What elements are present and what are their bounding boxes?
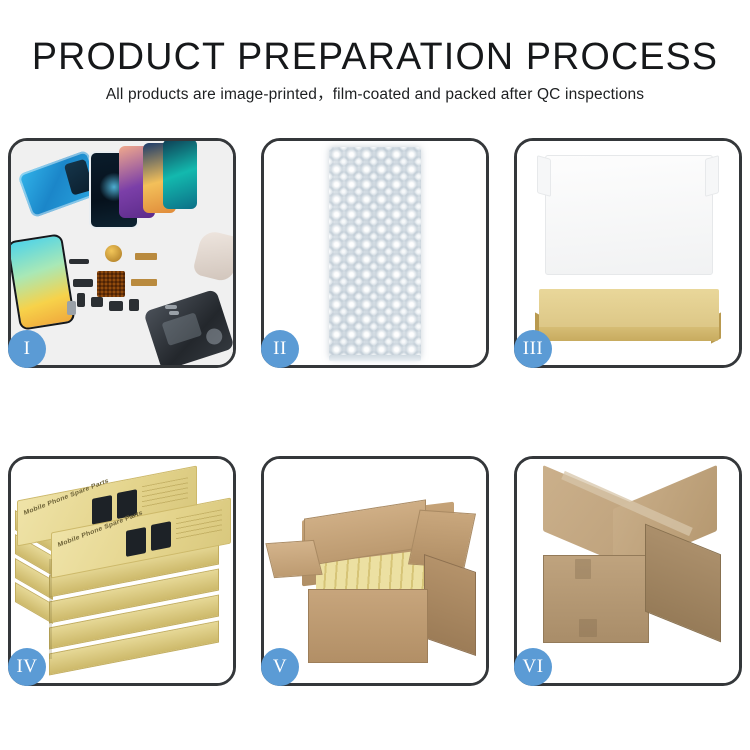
step-image-6 [517, 459, 739, 683]
step-badge-4: IV [8, 648, 46, 686]
box-label-1: Mobile Phone Spare Parts [23, 469, 130, 517]
page-title: PRODUCT PREPARATION PROCESS [4, 36, 747, 78]
box-spec-lines-2 [176, 509, 222, 542]
phone-parts-scene [11, 141, 233, 365]
sim-tray-icon [67, 301, 76, 315]
box-lid-flap-left [537, 155, 551, 197]
bar-part-icon [69, 259, 89, 264]
step-card-5: V [261, 456, 489, 686]
step-badge-1: I [8, 330, 46, 368]
flex-cable-2-icon [131, 279, 157, 286]
step-badge-6: VI [514, 648, 552, 686]
flex-cable-icon [135, 253, 157, 260]
speaker-part-icon [105, 245, 122, 262]
phone-colorful-icon [11, 233, 76, 331]
step-card-6: VI [514, 456, 742, 686]
step-card-1: I [8, 138, 236, 368]
carton-tab-top [575, 559, 591, 579]
steps-grid: I II [8, 138, 742, 686]
step-badge-3: III [514, 330, 552, 368]
carton-tab-bottom [579, 619, 597, 637]
carton-filling-scene [264, 459, 486, 683]
stack-seam [49, 559, 52, 659]
step-image-4: Mobile Phone Spare Parts Mobile Phone Sp… [11, 459, 233, 683]
step-badge-5: V [261, 648, 299, 686]
box-phone-image-4 [151, 521, 171, 551]
connector-part-icon [73, 279, 93, 287]
box-tray-front [539, 327, 719, 341]
screw-icon [165, 305, 177, 309]
sealed-carton-scene [517, 459, 739, 683]
bubble-wrap-icon [329, 147, 421, 359]
step-image-1 [11, 141, 233, 365]
box-spec-lines-1 [142, 477, 188, 510]
step-badge-2: II [261, 330, 299, 368]
product-preparation-infographic: PRODUCT PREPARATION PROCESS All products… [0, 0, 750, 750]
spare-parts-group [69, 249, 189, 329]
box-lid-icon [545, 155, 713, 275]
bubble-wrap-scene [264, 141, 486, 365]
step-image-2 [264, 141, 486, 365]
sealed-carton-side [645, 524, 721, 643]
small-part-b-icon [91, 297, 103, 307]
carton-side-panel [424, 554, 476, 656]
box-lid-flap-right [705, 155, 719, 197]
inner-box-scene [517, 141, 739, 365]
phone-teal-icon [163, 141, 197, 209]
page-subtitle: All products are image-printed，film-coat… [0, 85, 750, 105]
step-card-4: Mobile Phone Spare Parts Mobile Phone Sp… [8, 456, 236, 686]
carton-front-panel [308, 589, 428, 663]
step-image-3 [517, 141, 739, 365]
step-image-5 [264, 459, 486, 683]
stacked-boxes-scene: Mobile Phone Spare Parts Mobile Phone Sp… [11, 459, 233, 683]
small-part-a-icon [77, 293, 85, 307]
step-card-3: III [514, 138, 742, 368]
bubble-wrap-seam [329, 355, 421, 361]
hand-icon [192, 229, 233, 283]
box-phone-image-3 [126, 527, 146, 557]
carton-flap-left [265, 540, 322, 578]
small-part-c-icon [109, 301, 123, 311]
camera-part-icon [129, 299, 139, 311]
ic-chip-icon [97, 271, 125, 297]
screw-2-icon [169, 311, 179, 315]
step-card-2: II [261, 138, 489, 368]
